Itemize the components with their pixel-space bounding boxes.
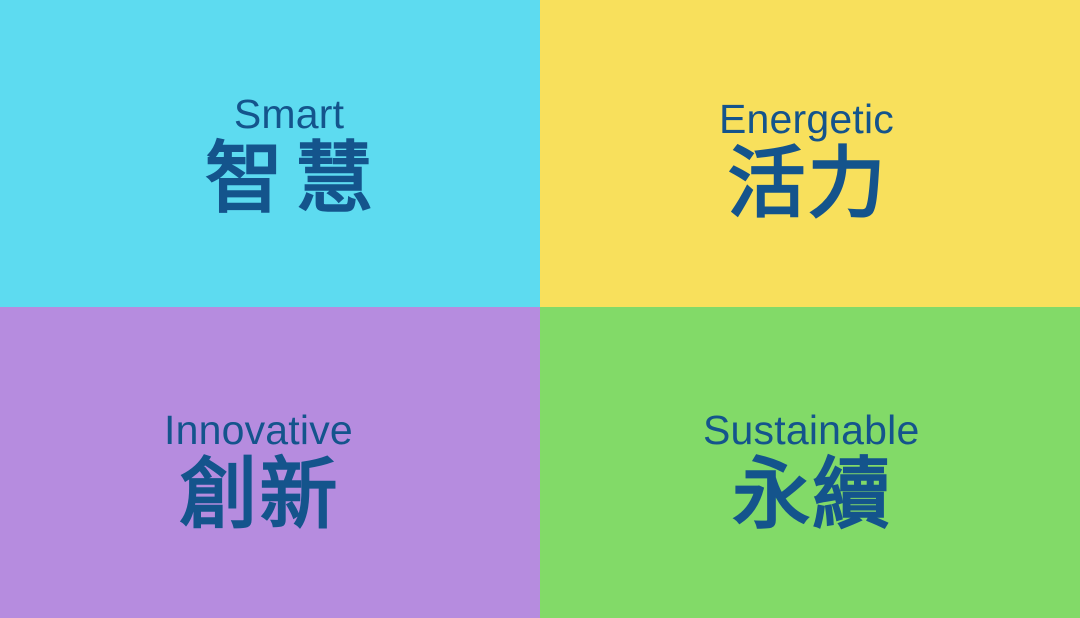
brand-values-graphic: Smart 智慧 Energetic 活力 Innovative 創新 Sust… bbox=[0, 0, 1080, 618]
value-chinese-label: 活力 bbox=[726, 144, 888, 222]
value-chinese-label: 智慧 bbox=[193, 139, 385, 217]
value-english-label: Innovative bbox=[164, 410, 353, 451]
value-english-label: Sustainable bbox=[703, 410, 919, 451]
value-english-label: Energetic bbox=[719, 99, 894, 140]
quadrant-smart: Smart 智慧 bbox=[0, 0, 540, 307]
value-block-energetic: Energetic 活力 bbox=[719, 99, 894, 222]
value-block-smart: Smart 智慧 bbox=[193, 94, 385, 217]
value-block-sustainable: Sustainable 永續 bbox=[703, 410, 919, 533]
quadrant-innovative: Innovative 創新 bbox=[0, 307, 540, 618]
value-chinese-label: 永續 bbox=[730, 455, 892, 533]
quadrant-energetic: Energetic 活力 bbox=[540, 0, 1080, 307]
value-english-label: Smart bbox=[234, 94, 344, 135]
value-chinese-label: 創新 bbox=[177, 455, 339, 533]
quadrant-sustainable: Sustainable 永續 bbox=[540, 307, 1080, 618]
value-block-innovative: Innovative 創新 bbox=[164, 410, 353, 533]
value-grid: Smart 智慧 Energetic 活力 Innovative 創新 Sust… bbox=[0, 0, 1080, 618]
